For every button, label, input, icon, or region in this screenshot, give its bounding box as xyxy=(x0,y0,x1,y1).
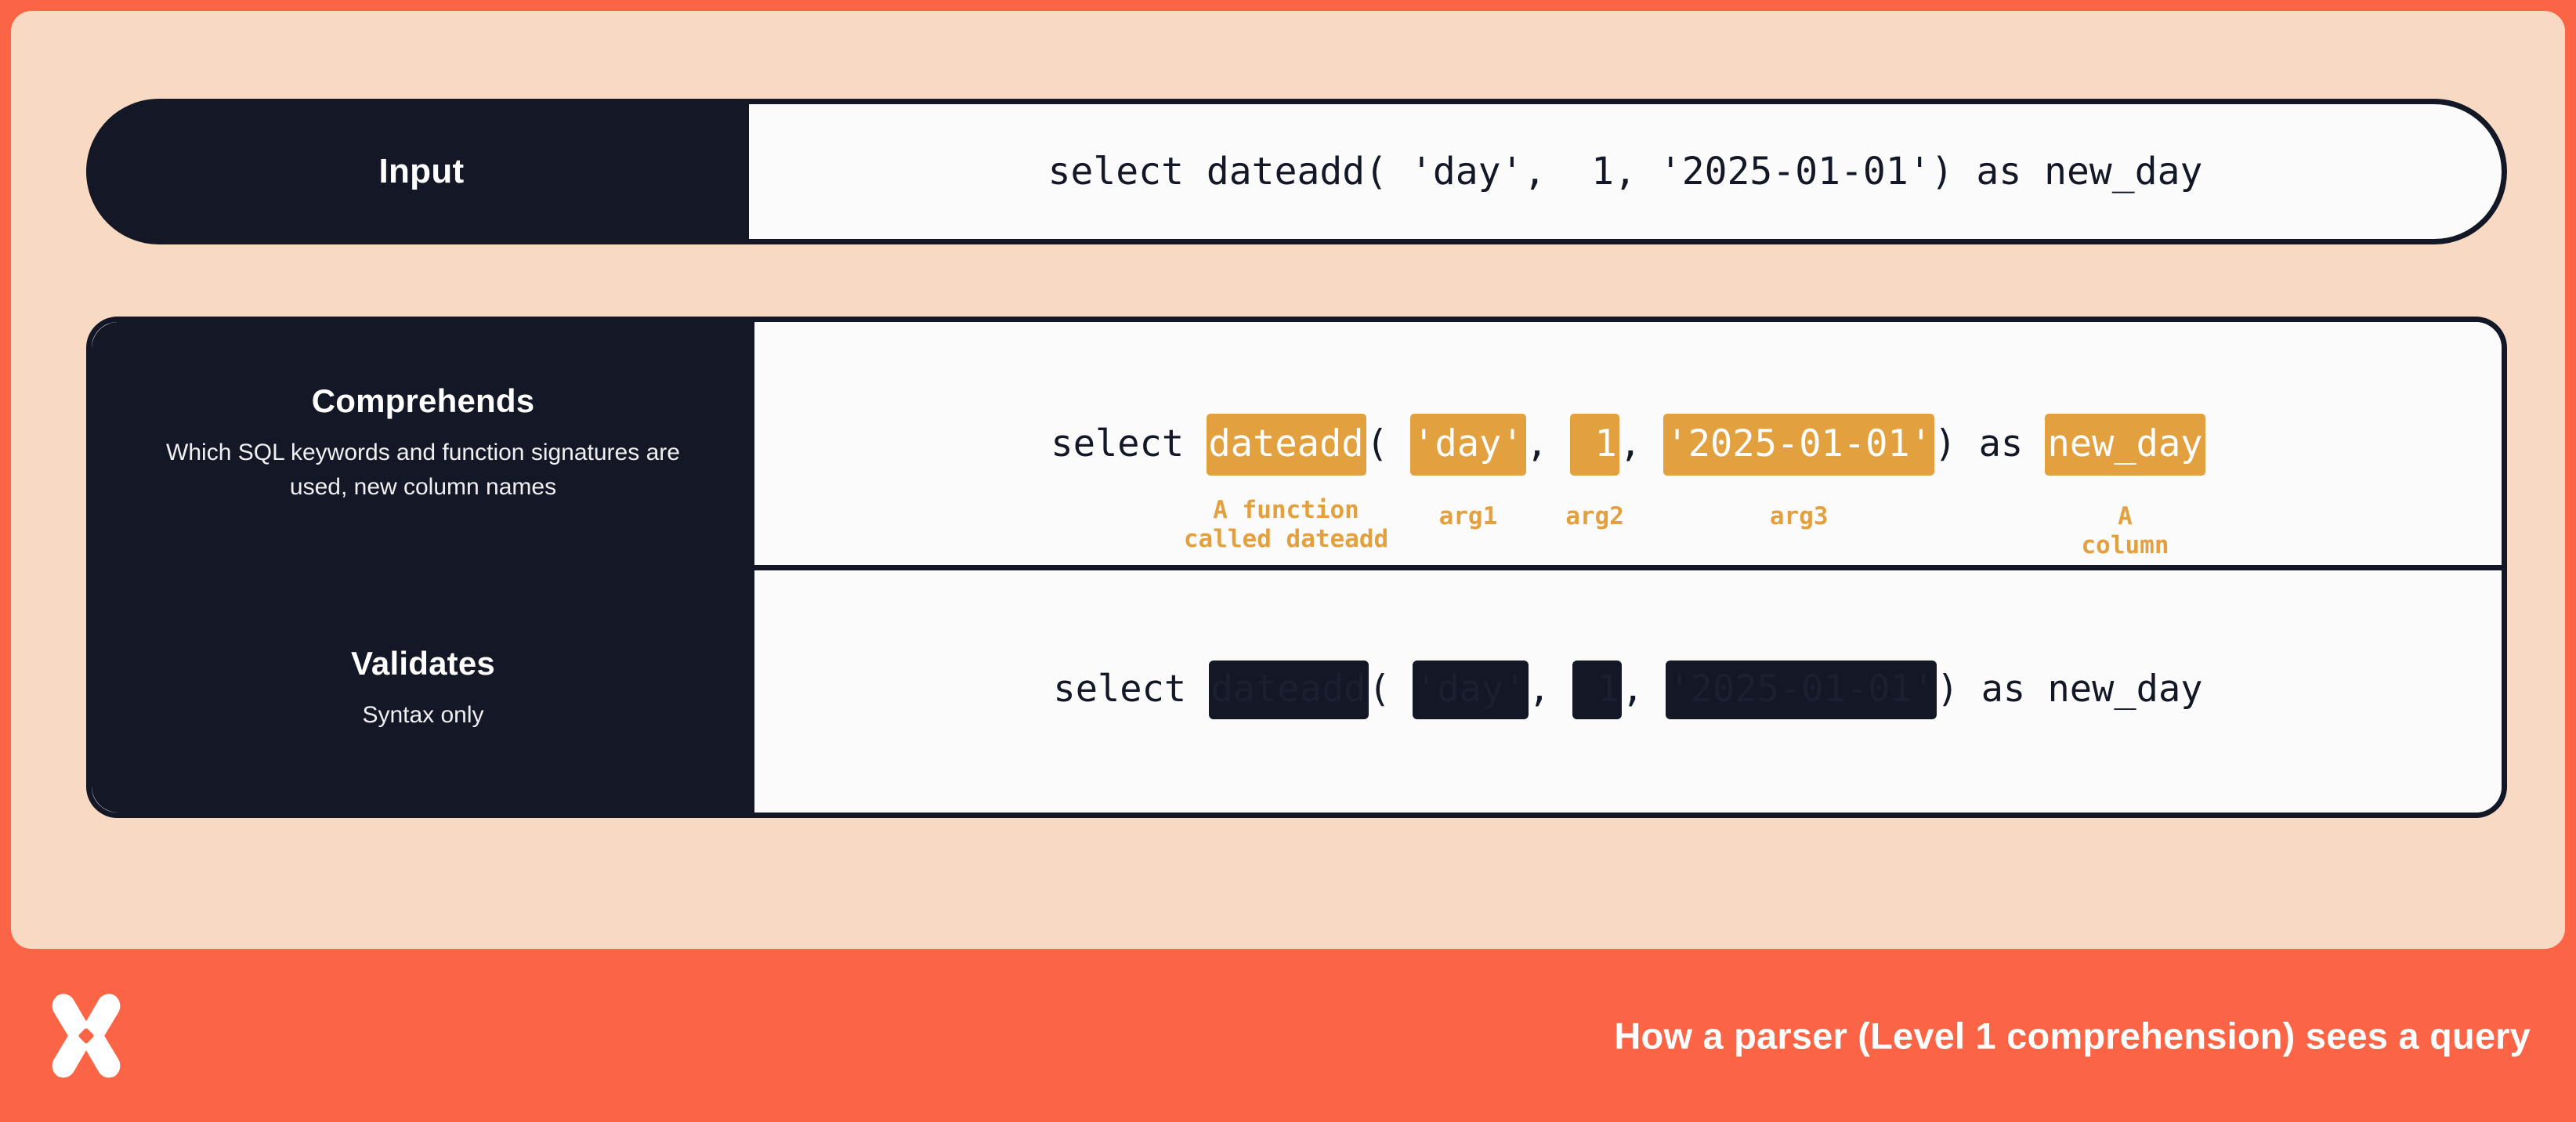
code-token: ( xyxy=(1369,668,1413,711)
code-annotation: arg1 xyxy=(1439,502,1498,532)
code-token: , xyxy=(1529,668,1573,711)
code-token-redacted: 'day' xyxy=(1413,661,1528,719)
code-annotation: A column xyxy=(2082,502,2169,562)
code-token: ( xyxy=(1366,422,1411,465)
code-annotation: arg3 xyxy=(1770,502,1829,532)
comprehends-code-pane: select dateadd( 'day', 1, '2025-01-01') … xyxy=(754,322,2502,565)
comprehends-code-text: select dateadd( 'day', 1, '2025-01-01') … xyxy=(1051,425,2205,462)
code-token: , xyxy=(1619,422,1664,465)
code-annotation: arg2 xyxy=(1565,502,1624,532)
parser-card: Comprehends Which SQL keywords and funct… xyxy=(86,317,2507,818)
code-token: ) as xyxy=(1934,422,2045,465)
code-token-highlight: '2025-01-01' xyxy=(1663,414,1934,476)
comprehends-subtitle: Which SQL keywords and function signatur… xyxy=(141,436,705,505)
row-divider xyxy=(754,565,2502,570)
input-label: Input xyxy=(378,152,464,191)
code-token-redacted: '2025-01-01' xyxy=(1666,661,1937,719)
input-row: Input select dateadd( 'day', 1, '2025-01… xyxy=(86,99,2507,244)
code-token-highlight: dateadd xyxy=(1207,414,1366,476)
validates-code-text: select dateadd( 'day', 1, '2025-01-01') … xyxy=(1053,671,2202,708)
poster-root: Input select dateadd( 'day', 1, '2025-01… xyxy=(0,0,2576,1122)
code-token-highlight: 'day' xyxy=(1410,414,1525,476)
content-panel: Input select dateadd( 'day', 1, '2025-01… xyxy=(11,11,2565,949)
code-token-highlight: 1 xyxy=(1570,414,1619,476)
code-token-redacted: dateadd xyxy=(1209,661,1369,719)
code-annotation: A function called dateadd xyxy=(1184,496,1388,556)
input-label-pane: Input xyxy=(86,99,757,244)
validates-title: Validates xyxy=(351,645,495,682)
code-token: , xyxy=(1622,668,1666,711)
code-token-redacted: 1 xyxy=(1572,661,1622,719)
validates-code-pane: select dateadd( 'day', 1, '2025-01-01') … xyxy=(754,565,2502,813)
code-token: ) as new_day xyxy=(1937,668,2203,711)
comprehends-row: Comprehends Which SQL keywords and funct… xyxy=(92,322,2502,565)
footer-bar: How a parser (Level 1 comprehension) see… xyxy=(0,949,2576,1122)
comprehends-label-pane: Comprehends Which SQL keywords and funct… xyxy=(92,322,754,565)
comprehends-code-stack: select dateadd( 'day', 1, '2025-01-01') … xyxy=(1051,425,2205,462)
code-token-highlight: new_day xyxy=(2045,414,2205,476)
input-code-pane: select dateadd( 'day', 1, '2025-01-01') … xyxy=(749,99,2507,244)
input-code-text: select dateadd( 'day', 1, '2025-01-01') … xyxy=(1048,153,2203,190)
validates-subtitle: Syntax only xyxy=(362,698,483,733)
validates-row: Validates Syntax only select dateadd( 'd… xyxy=(92,565,2502,813)
comprehends-title: Comprehends xyxy=(312,382,535,420)
footer-caption: How a parser (Level 1 comprehension) see… xyxy=(1614,1014,2531,1057)
x-mark-logo-icon xyxy=(41,990,132,1081)
code-token: , xyxy=(1526,422,1571,465)
code-token: select xyxy=(1053,668,1208,711)
validates-label-pane: Validates Syntax only xyxy=(92,565,754,813)
code-token: select xyxy=(1051,422,1206,465)
